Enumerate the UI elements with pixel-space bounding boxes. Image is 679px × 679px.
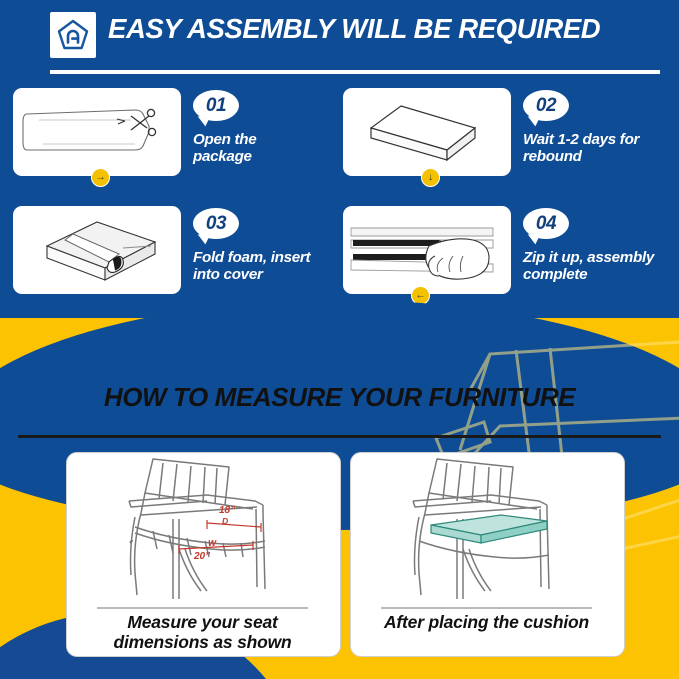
step-number-badge: 03 [193,208,239,239]
arrow-glyph: ← [416,291,426,301]
step-label-line: complete [523,266,587,283]
foam-folded-into-cover-icon [13,206,181,294]
chair-with-cushion-placed-icon [351,453,622,605]
step-number-badge: 01 [193,90,239,121]
arrow-glyph: → [96,173,106,183]
assembly-header: EASY ASSEMBLY WILL BE REQUIRED [0,0,679,68]
step-item: ← 04 Zip it up, assembly complete [338,206,673,314]
dimension-depth-value: 18” [219,505,235,516]
step-label: Fold foam, insert into cover [193,249,343,283]
flat-foam-cushion-icon [343,88,511,176]
step-text: 01 Open the package [193,90,343,165]
step-number: 04 [523,208,569,239]
step-text: 04 Zip it up, assembly complete [523,208,673,283]
assembly-steps: → 01 Open the package [0,88,679,313]
package-bag-with-scissors-icon [13,88,181,176]
step-illustration-card: ← [343,206,511,294]
dimension-depth-axis: D [222,516,228,526]
step-item: → 01 Open the package [8,88,343,196]
panel-caption-line: After placing the cushion [384,612,589,632]
arrow-left-badge: ← [411,286,430,305]
measure-panel: 18” D W 20” Measure your seat dimensions… [66,452,341,657]
panel-caption-line: Measure your seat [127,612,277,632]
step-illustration-card: ↓ [343,88,511,176]
step-number-badge: 04 [523,208,569,239]
header-divider [50,70,660,74]
assembly-section: EASY ASSEMBLY WILL BE REQUIRED [0,0,679,400]
step-item: 03 Fold foam, insert into cover [8,206,343,314]
panel-divider [381,607,592,609]
step-label-line: Wait 1-2 days for [523,131,639,148]
step-label-line: Zip it up, assembly [523,249,654,266]
step-label-line: into cover [193,266,263,283]
step-number: 01 [193,90,239,121]
arrow-right-badge: → [91,168,110,187]
step-number-badge: 02 [523,90,569,121]
hand-closing-zipper-icon [343,206,511,294]
step-label: Zip it up, assembly complete [523,249,673,283]
step-label-line: package [193,148,252,165]
step-label-line: Open the [193,131,256,148]
panel-caption: Measure your seat dimensions as shown [75,613,330,653]
panel-divider [97,607,308,609]
blue-corner-accent [0,612,296,679]
step-illustration-card [13,206,181,294]
step-label: Open the package [193,131,343,165]
step-text: 02 Wait 1-2 days for rebound [523,90,673,165]
step-item: ↓ 02 Wait 1-2 days for rebound [338,88,673,196]
dimension-width-axis: W [208,538,217,548]
step-text: 03 Fold foam, insert into cover [193,208,343,283]
infographic-poster: EASY ASSEMBLY WILL BE REQUIRED [0,0,679,679]
step-label-line: Fold foam, insert [193,249,310,266]
dimension-width-value: 20” [193,551,210,562]
measure-divider [18,435,661,438]
arrow-down-badge: ↓ [421,168,440,187]
step-label: Wait 1-2 days for rebound [523,131,673,165]
chair-with-seat-dimensions-icon: 18” D W 20” [67,453,338,605]
step-label-line: rebound [523,148,582,165]
step-number: 02 [523,90,569,121]
step-number: 03 [193,208,239,239]
step-illustration-card: → [13,88,181,176]
page-title: EASY ASSEMBLY WILL BE REQUIRED [108,13,600,45]
arrow-glyph: ↓ [428,173,433,183]
measure-panel: After placing the cushion [350,452,625,657]
panel-caption: After placing the cushion [359,613,614,633]
panel-caption-line: dimensions as shown [113,632,291,652]
house-pentagon-logo-icon [50,12,96,58]
